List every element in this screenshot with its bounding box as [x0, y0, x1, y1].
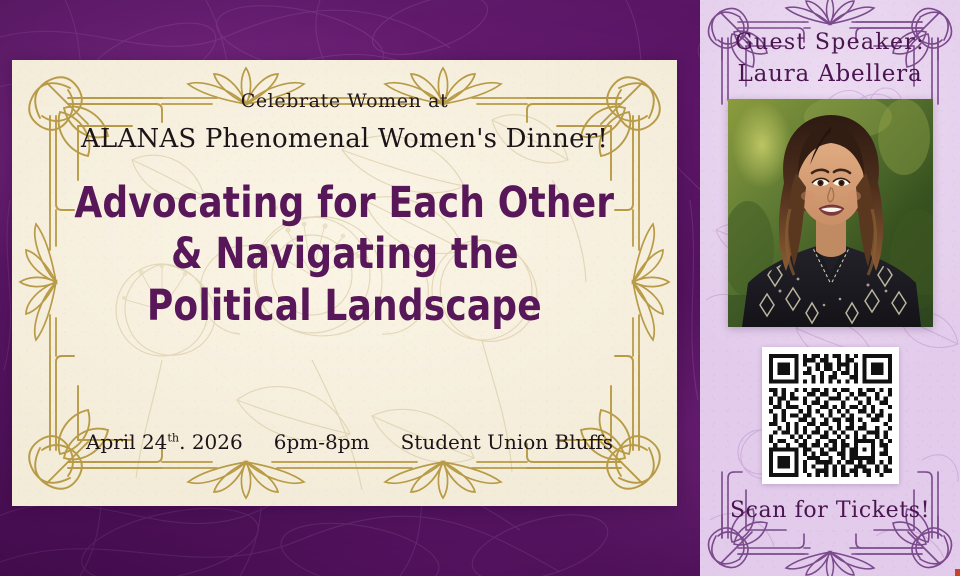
scan-for-tickets-label: Scan for Tickets!: [730, 498, 930, 523]
speaker-sidebar: Guest Speaker: Laura Abellera: [700, 0, 960, 576]
speaker-portrait-image: [728, 99, 933, 327]
title-line-2: & Navigating the: [171, 231, 519, 277]
event-date-monthday: April 24: [86, 430, 167, 454]
guest-speaker-name: Laura Abellera: [738, 61, 923, 87]
guest-speaker-label: Guest Speaker:: [735, 30, 925, 55]
title-line-3: Political Landscape: [147, 283, 542, 329]
event-date-ordinal: th: [167, 431, 179, 444]
title-line-1: Advocating for Each Other: [75, 180, 615, 226]
event-date: April 24th. 2026: [86, 430, 243, 454]
card-eyebrow: Celebrate Women at: [241, 90, 449, 112]
event-date-year: . 2026: [179, 430, 243, 454]
event-details: April 24th. 2026 6pm-8pm Student Union B…: [58, 430, 631, 454]
corner-accent-marker: [955, 569, 960, 576]
event-title: Advocating for Each Other & Navigating t…: [58, 180, 631, 329]
event-time: 6pm-8pm: [274, 430, 370, 454]
speaker-photo: [728, 99, 933, 327]
ticket-qr-code[interactable]: [762, 347, 899, 484]
qr-code-image[interactable]: [769, 354, 892, 477]
organization-line: ALANAS Phenomenal Women's Dinner!: [81, 124, 608, 154]
event-poster: Celebrate Women at ALANAS Phenomenal Wom…: [0, 0, 960, 576]
main-card: Celebrate Women at ALANAS Phenomenal Wom…: [12, 60, 677, 506]
event-venue: Student Union Bluffs: [401, 430, 613, 454]
